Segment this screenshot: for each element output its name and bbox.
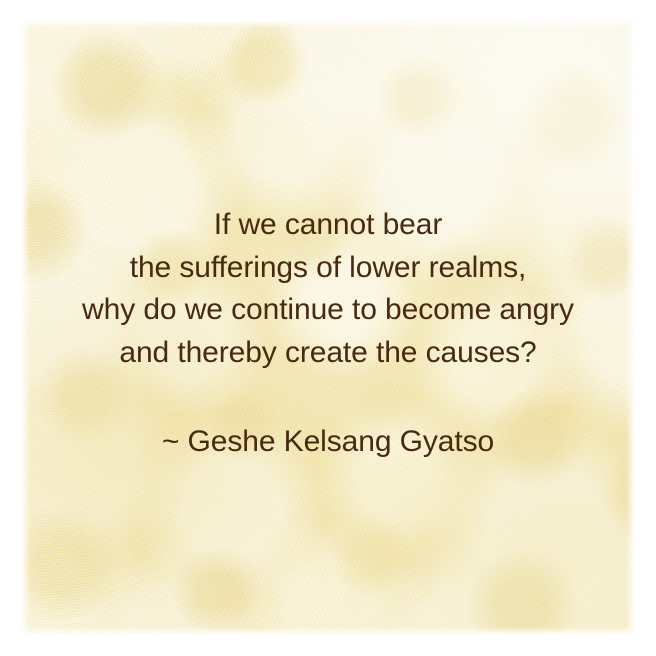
quote-text: If we cannot bear the sufferings of lowe…: [0, 204, 656, 374]
quote-line-2: the sufferings of lower realms,: [0, 247, 656, 290]
quote-line-1: If we cannot bear: [0, 204, 656, 247]
quote-attribution: ~ Geshe Kelsang Gyatso: [0, 422, 656, 462]
quote-line-3: why do we continue to become angry: [0, 289, 656, 332]
quote-card: If we cannot bear the sufferings of lowe…: [0, 0, 656, 656]
quote-line-4: and thereby create the causes?: [0, 332, 656, 375]
